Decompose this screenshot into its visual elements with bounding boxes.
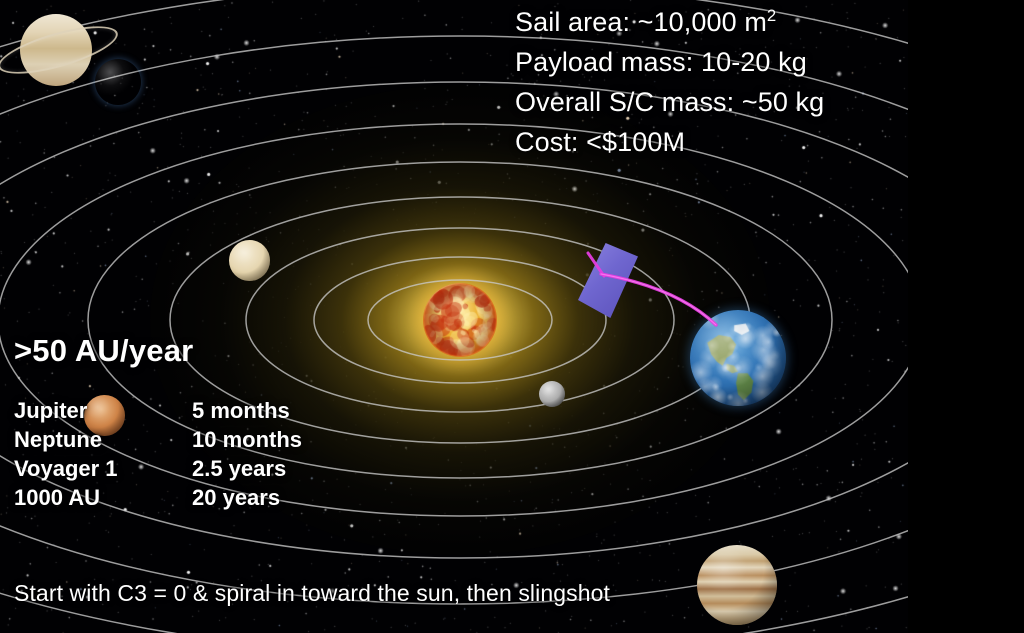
orbit-ring-2	[314, 257, 606, 383]
duration-1000-au: 20 years	[192, 483, 302, 512]
planet-shading	[697, 545, 777, 625]
table-row: 1000 AU 20 years	[14, 483, 302, 512]
spec-cost: Cost: <$100M	[515, 122, 824, 162]
duration-voyager-1: 2.5 years	[192, 454, 302, 483]
orbit-ring-1	[368, 280, 552, 360]
spec-spacecraft-mass: Overall S/C mass: ~50 kg	[515, 82, 824, 122]
slide-canvas: Sail area: ~10,000 m2 Payload mass: 10-2…	[0, 0, 1024, 633]
destination-voyager-1: Voyager 1	[14, 454, 192, 483]
table-body: Jupiter 5 months Neptune 10 months Voyag…	[14, 396, 302, 512]
duration-jupiter: 5 months	[192, 396, 302, 425]
planet-shading	[690, 310, 786, 406]
planet-shading	[539, 381, 565, 407]
mission-profile-footnote: Start with C3 = 0 & spiral in toward the…	[14, 580, 610, 607]
table-row: Voyager 1 2.5 years	[14, 454, 302, 483]
speed-headline: >50 AU/year	[14, 333, 193, 369]
specifications-block: Sail area: ~10,000 m2 Payload mass: 10-2…	[515, 2, 824, 162]
table-row: Neptune 10 months	[14, 425, 302, 454]
planet-shading	[229, 240, 270, 281]
planet-mercury	[539, 381, 565, 407]
planet-earth	[690, 310, 786, 406]
spec-sail-area: Sail area: ~10,000 m2	[515, 2, 824, 42]
spec-payload-mass: Payload mass: 10-20 kg	[515, 42, 824, 82]
destination-jupiter: Jupiter	[14, 396, 192, 425]
planet-neptune	[95, 59, 141, 105]
planet-jupiter	[697, 545, 777, 625]
duration-neptune: 10 months	[192, 425, 302, 454]
sail-area-exponent: 2	[767, 6, 776, 25]
sail-panel	[578, 243, 638, 318]
mission-durations-table: Jupiter 5 months Neptune 10 months Voyag…	[14, 396, 302, 512]
destination-neptune: Neptune	[14, 425, 192, 454]
destination-1000-au: 1000 AU	[14, 483, 192, 512]
solar-sail-spacecraft	[578, 243, 638, 318]
planet-shading	[95, 59, 141, 105]
planet-venus	[229, 240, 270, 281]
table-row: Jupiter 5 months	[14, 396, 302, 425]
